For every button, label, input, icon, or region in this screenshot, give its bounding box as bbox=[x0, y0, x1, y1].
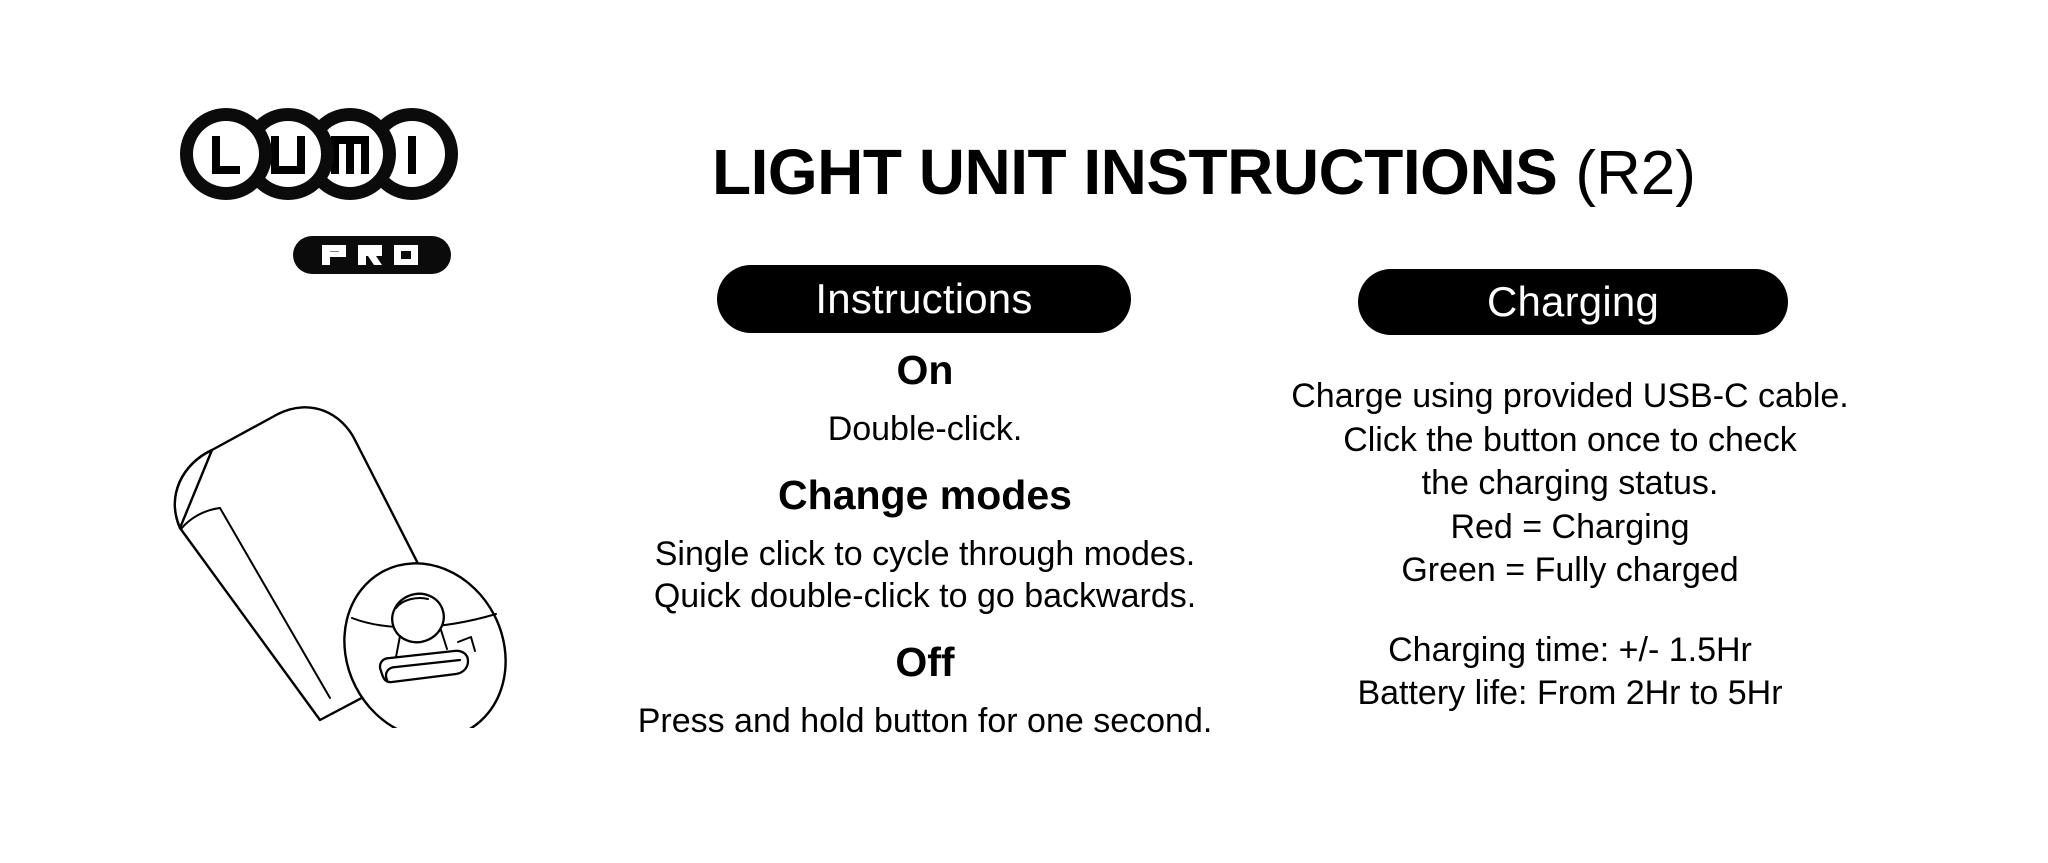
instructions-modes-line-2: Quick double-click to go backwards. bbox=[565, 575, 1285, 618]
battery-life-line: Battery life: From 2Hr to 5Hr bbox=[1210, 672, 1930, 716]
instruction-sheet: LIGHT UNIT INSTRUCTIONS (R2) Instruction… bbox=[0, 0, 2048, 863]
charging-line-5: Green = Fully charged bbox=[1210, 549, 1930, 593]
page-title-main: LIGHT UNIT INSTRUCTIONS bbox=[712, 140, 1557, 204]
page-title-revision: (R2) bbox=[1575, 143, 1696, 205]
lumi-pro-logo bbox=[180, 108, 460, 278]
section-header-instructions: Instructions bbox=[717, 265, 1131, 333]
charging-time-line: Charging time: +/- 1.5Hr bbox=[1210, 629, 1930, 673]
charging-line-2: Click the button once to check bbox=[1210, 419, 1930, 463]
logo-circle-l bbox=[180, 108, 272, 200]
logo-circle-group bbox=[180, 108, 460, 200]
section-header-charging: Charging bbox=[1358, 269, 1788, 335]
instructions-on-text: Double-click. bbox=[565, 408, 1285, 451]
logo-letter-i-icon bbox=[402, 132, 422, 176]
instructions-column: On Double-click. Change modes Single cli… bbox=[565, 348, 1285, 743]
charging-line-3: the charging status. bbox=[1210, 462, 1930, 506]
instructions-modes-heading: Change modes bbox=[565, 473, 1285, 519]
instructions-off-text: Press and hold button for one second. bbox=[565, 700, 1285, 743]
charging-column: Charge using provided USB-C cable. Click… bbox=[1210, 375, 1930, 716]
cylindrical-light-unit-icon bbox=[160, 368, 570, 728]
instructions-modes-line-1: Single click to cycle through modes. bbox=[565, 533, 1285, 576]
light-unit-illustration bbox=[160, 368, 570, 728]
charging-line-1: Charge using provided USB-C cable. bbox=[1210, 375, 1930, 419]
instructions-on-heading: On bbox=[565, 348, 1285, 394]
logo-pro-badge bbox=[293, 236, 451, 274]
instructions-off-heading: Off bbox=[565, 640, 1285, 686]
logo-letter-l-icon bbox=[206, 132, 246, 176]
section-header-charging-label: Charging bbox=[1487, 278, 1659, 326]
section-header-instructions-label: Instructions bbox=[815, 275, 1032, 323]
page-title: LIGHT UNIT INSTRUCTIONS (R2) bbox=[712, 140, 1696, 210]
charging-line-4: Red = Charging bbox=[1210, 506, 1930, 550]
logo-letter-u-icon bbox=[267, 132, 309, 176]
logo-pro-letters-icon bbox=[320, 243, 424, 267]
